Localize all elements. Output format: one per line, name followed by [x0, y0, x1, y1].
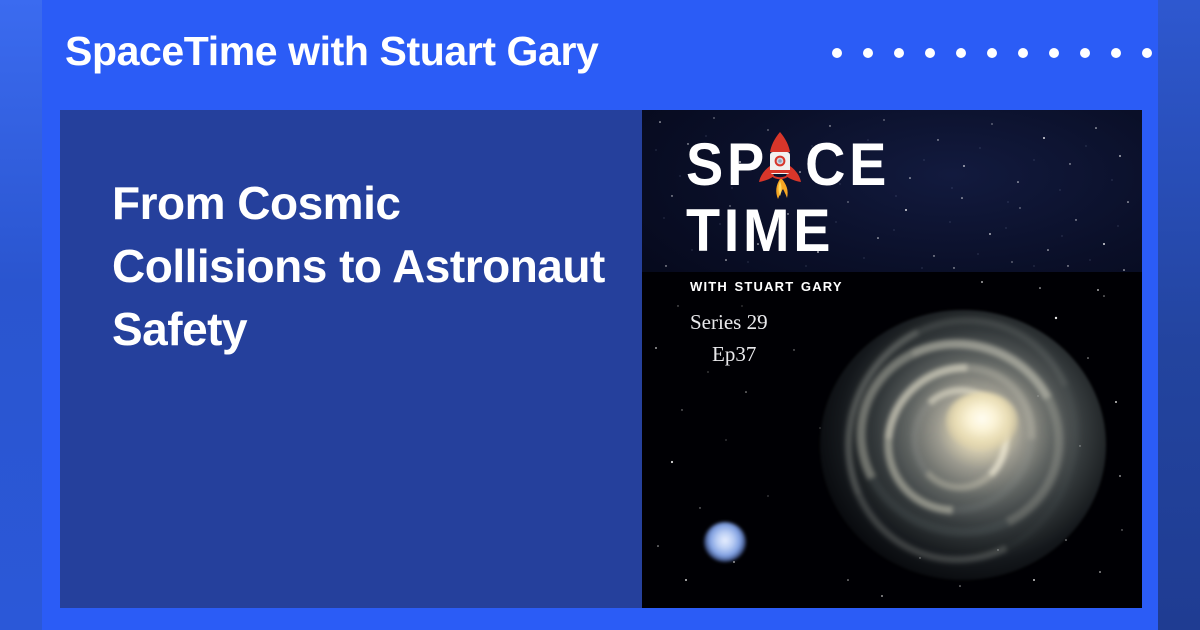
artwork-logo-line-2: TIME [686, 202, 834, 260]
artwork-byline: with Stuart Gary [690, 275, 843, 297]
episode-text-block: From Cosmic Collisions to Astronaut Safe… [112, 172, 612, 361]
decorative-dot-icon [987, 48, 997, 58]
artwork-episode-label: Ep37 [712, 342, 756, 367]
artwork-typography: SPCE [642, 110, 1142, 608]
decorative-dot-icon [1080, 48, 1090, 58]
decorative-dot-icon [863, 48, 873, 58]
artwork-logo-sp: SP [686, 131, 768, 198]
poster-stage: SpaceTime with Stuart Gary From Cosmic C… [0, 0, 1200, 630]
decorative-dot-icon [894, 48, 904, 58]
episode-title: From Cosmic Collisions to Astronaut Safe… [112, 172, 612, 361]
decorative-dot-icon [1049, 48, 1059, 58]
episode-card: From Cosmic Collisions to Astronaut Safe… [60, 110, 1142, 608]
decorative-dot-icon [1111, 48, 1121, 58]
artwork-series-label: Series 29 [690, 310, 768, 335]
decorative-dot-icon [1018, 48, 1028, 58]
decorative-dot-icon [925, 48, 935, 58]
decorative-dot-icon [956, 48, 966, 58]
decorative-dot-icon [832, 48, 842, 58]
podcast-cover-artwork: SPCE [642, 110, 1142, 608]
rocket-icon [757, 132, 803, 200]
header-dot-decoration [832, 48, 1152, 58]
decorative-dot-icon [1142, 48, 1152, 58]
podcast-show-title: SpaceTime with Stuart Gary [65, 27, 598, 75]
artwork-logo-ce: CE [805, 131, 890, 198]
header-bar: SpaceTime with Stuart Gary [0, 0, 1200, 100]
